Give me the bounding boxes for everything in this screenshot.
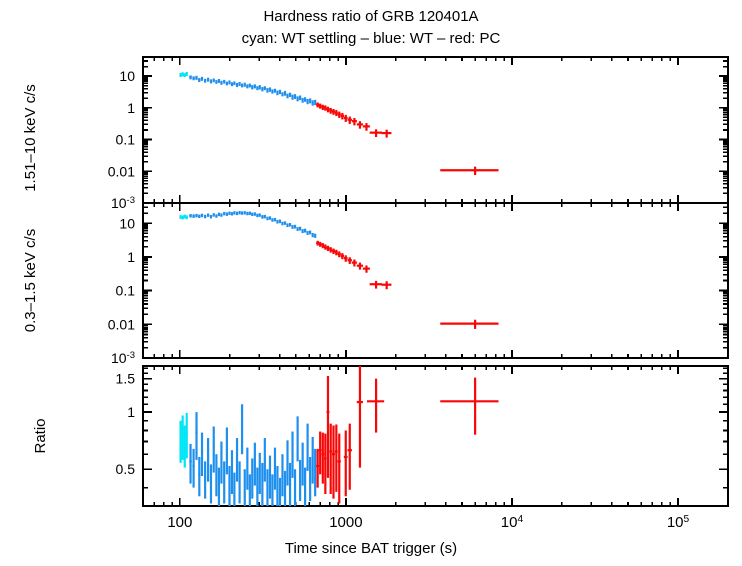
series-wt-settling bbox=[179, 413, 187, 468]
x-tick-label: 105 bbox=[667, 514, 690, 531]
series-pc bbox=[316, 241, 498, 329]
x-tick-label: 1000 bbox=[329, 514, 362, 531]
y-tick-label: 10 bbox=[119, 68, 135, 84]
y-tick-label: 1 bbox=[127, 404, 135, 420]
series-pc bbox=[316, 103, 498, 176]
series-wt bbox=[189, 211, 315, 238]
x-tick-label: 100 bbox=[167, 514, 192, 531]
panel-frame-ratio bbox=[143, 366, 728, 506]
y-tick-label: 0.5 bbox=[116, 461, 136, 477]
plot-area: 1010.10.0110-31010.10.0110-31.510.510010… bbox=[0, 0, 742, 566]
series-wt-settling bbox=[179, 72, 187, 77]
panel-frame-hard-band bbox=[143, 57, 728, 203]
y-tick-label: 1.5 bbox=[116, 371, 136, 387]
y-tick-label: 0.1 bbox=[116, 132, 136, 148]
series-wt bbox=[189, 75, 315, 105]
series-wt bbox=[189, 404, 315, 506]
y-tick-label: 10 bbox=[119, 215, 135, 231]
x-axis-label: Time since BAT trigger (s) bbox=[0, 540, 742, 557]
y-tick-label: 0.1 bbox=[116, 283, 136, 299]
y-tick-label: 10-3 bbox=[111, 350, 135, 366]
y-tick-label: 10-3 bbox=[111, 195, 135, 211]
series-wt-settling bbox=[179, 215, 187, 220]
series-pc bbox=[316, 366, 498, 503]
y-tick-label: 0.01 bbox=[108, 316, 135, 332]
y-axis-label-ratio: Ratio bbox=[32, 418, 49, 453]
x-tick-label: 104 bbox=[501, 514, 524, 531]
chart-svg: 1010.10.0110-31010.10.0110-31.510.510010… bbox=[0, 0, 742, 566]
panel-frame-soft-band bbox=[143, 203, 728, 358]
y-axis-label-soft: 0.3–1.5 keV c/s bbox=[22, 229, 39, 332]
y-tick-label: 1 bbox=[127, 249, 135, 265]
y-axis-label-hard: 1.51–10 keV c/s bbox=[22, 84, 39, 192]
figure-root: Hardness ratio of GRB 120401A cyan: WT s… bbox=[0, 0, 742, 566]
y-tick-label: 1 bbox=[127, 100, 135, 116]
y-tick-label: 0.01 bbox=[108, 163, 135, 179]
